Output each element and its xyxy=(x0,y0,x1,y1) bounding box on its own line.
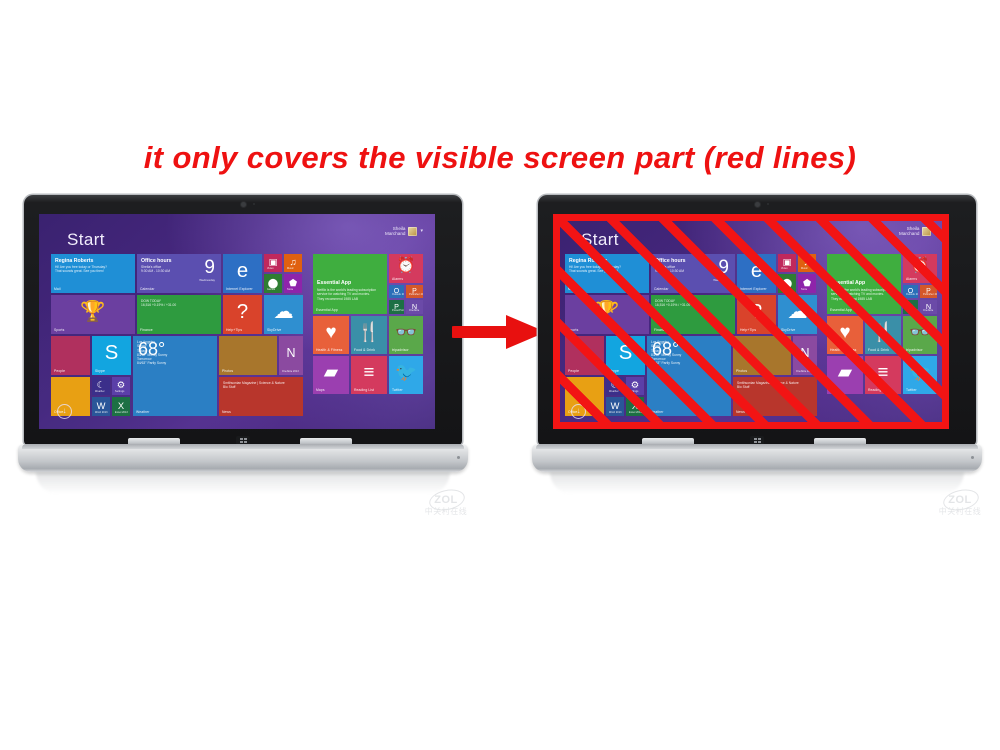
page-title: it only covers the visible screen part (… xyxy=(0,140,1000,176)
webcam-led-icon xyxy=(767,203,769,205)
mail-tile[interactable]: Regina RobertsHi! Are you free today or … xyxy=(51,254,135,293)
tripadvisor-tile-icon: 👓 xyxy=(389,316,423,349)
mail-tile-title: Regina Roberts xyxy=(55,258,93,264)
sports-tile-label: Sports xyxy=(54,328,64,332)
outlook-tile-label: Outlook 2013 xyxy=(906,293,918,296)
user-name: Sheila Marchand xyxy=(899,226,919,237)
twitter-tile[interactable]: 🐦Twitter xyxy=(389,356,423,394)
laptop-base xyxy=(532,444,982,472)
reading-list-tile[interactable]: ≡Reading List xyxy=(351,356,387,394)
onenote-small-tile-label: OneNote xyxy=(409,309,419,312)
weather-small-tile[interactable]: ☾Weather xyxy=(606,377,624,395)
reading-list-tile[interactable]: ≡Reading List xyxy=(865,356,901,394)
word-tile-label: Word 2013 xyxy=(95,411,108,414)
food-drink-tile-label: Food & Drink xyxy=(354,348,375,352)
powerpoint-tile-label: PowerPoint 2013 xyxy=(906,309,918,312)
chevron-down-icon[interactable]: ▾ xyxy=(934,228,937,234)
excel-tile[interactable]: XExcel 2013 xyxy=(626,397,644,416)
internet-explorer-tile[interactable]: eInternet Explorer xyxy=(223,254,262,293)
screen-after[interactable]: Start Sheila Marchand ▾ Regina RobertsHi… xyxy=(553,214,949,429)
twitter-tile-label: Twitter xyxy=(392,388,403,392)
alarm-tile[interactable]: ⏰Alarms xyxy=(903,254,937,283)
laptop-after: Start Sheila Marchand ▾ Regina RobertsHi… xyxy=(532,195,982,495)
laptop-base xyxy=(18,444,468,472)
essential-app-tile[interactable]: Essential AppNetflix is the world's lead… xyxy=(827,254,901,314)
help-tips-tile-label: Help+Tips xyxy=(226,328,242,332)
start-heading: Start xyxy=(581,230,619,250)
sports-tile-icon: 🏆 xyxy=(565,295,649,329)
avatar[interactable] xyxy=(922,227,931,236)
internet-explorer-tile[interactable]: eInternet Explorer xyxy=(737,254,776,293)
games-tile[interactable]: ⬤Games xyxy=(264,274,282,293)
maps-tile[interactable]: ▰Maps xyxy=(313,356,349,394)
music-tile-label: Music xyxy=(801,267,808,270)
excel-tile-label: Excel 2013 xyxy=(629,411,642,414)
news-tile[interactable]: Smithsonian Magazine | Science & NatureB… xyxy=(733,377,817,416)
onenote-tile[interactable]: NOneNote 2013 xyxy=(279,336,303,375)
onenote-tile[interactable]: NOneNote 2013 xyxy=(793,336,817,375)
games-tile[interactable]: ⬤Games xyxy=(778,274,796,293)
skydrive-tile-label: SkyDrive xyxy=(781,328,795,332)
essential-app-tile-title: Essential App xyxy=(831,280,865,286)
skype-tile-icon: S xyxy=(606,336,645,370)
alarm-tile-label: Alarms xyxy=(392,277,403,281)
start-heading: Start xyxy=(67,230,105,250)
help-tips-tile-icon: ? xyxy=(737,295,776,329)
weather-tile-label: Weather xyxy=(136,410,149,414)
onenote-tile-label: OneNote 2013 xyxy=(796,370,813,373)
weather-small-tile[interactable]: ☾Weather xyxy=(92,377,110,395)
weather-tile[interactable]: Los AngelesSunnyToday83/62° Mostly Sunny… xyxy=(133,336,217,416)
essential-app-tile[interactable]: Essential AppNetflix is the world's lead… xyxy=(313,254,387,314)
maps-tile-icon: ▰ xyxy=(827,356,863,389)
page-canvas: it only covers the visible screen part (… xyxy=(0,0,1000,750)
laptop-before: Start Sheila Marchand ▾ Regina RobertsHi… xyxy=(18,195,468,495)
scroll-down-icon[interactable]: ↓ xyxy=(57,404,72,419)
store-tile[interactable]: ⬟Store xyxy=(284,274,302,293)
skype-tile[interactable]: SSkype xyxy=(606,336,645,375)
finance-tile-label: Finance xyxy=(654,328,667,332)
tripadvisor-tile-icon: 👓 xyxy=(903,316,937,349)
tripadvisor-tile[interactable]: 👓tripadvisor xyxy=(389,316,423,354)
watermark-line2: 中关村在线 xyxy=(912,506,1000,518)
calendar-tile[interactable]: Office hoursSheila's office9:30 AM - 10:… xyxy=(651,254,735,293)
skydrive-tile-label: SkyDrive xyxy=(267,328,281,332)
weather-small-tile-label: Weather xyxy=(609,390,619,393)
people-tile-label: People xyxy=(568,369,579,373)
games-tile-label: Games xyxy=(781,288,789,291)
alarm-tile-icon: ⏰ xyxy=(903,254,937,278)
finance-tile[interactable]: DOW TODAY16,516 +0.19% / +31.00Finance xyxy=(137,295,221,334)
twitter-tile-icon: 🐦 xyxy=(389,356,423,389)
photos-tile[interactable]: Photos xyxy=(733,336,791,375)
scroll-down-icon[interactable]: ↓ xyxy=(571,404,586,419)
user-name-line1: Sheila xyxy=(907,226,920,231)
reading-list-tile-label: Reading List xyxy=(868,388,888,392)
watermark-line2: 中关村在线 xyxy=(398,506,494,518)
outlook-tile-icon: O xyxy=(389,285,404,298)
video-tile-label: Video xyxy=(267,267,274,270)
maps-tile-label: Maps xyxy=(830,388,839,392)
onenote-small-tile[interactable]: NOneNote xyxy=(920,300,937,314)
webcam-led-icon xyxy=(253,203,255,205)
publisher-tile-label: Publisher 2013 xyxy=(923,293,937,296)
outlook-tile-icon: O xyxy=(903,285,918,298)
mail-tile[interactable]: Regina RobertsHi! Are you free today or … xyxy=(565,254,649,293)
tripadvisor-tile[interactable]: 👓tripadvisor xyxy=(903,316,937,354)
finance-tile[interactable]: DOW TODAY16,516 +0.19% / +31.00Finance xyxy=(651,295,735,334)
settings-tile[interactable]: ⚙Settings xyxy=(112,377,130,395)
skype-tile[interactable]: SSkype xyxy=(92,336,131,375)
maps-tile[interactable]: ▰Maps xyxy=(827,356,863,394)
help-tips-tile-icon: ? xyxy=(223,295,262,329)
windows-logo-icon xyxy=(240,438,247,443)
health-fitness-tile-label: Health & Fitness xyxy=(830,348,856,352)
essential-app-tile-label: Essential App xyxy=(316,308,338,312)
finance-tile-lines: DOW TODAY16,516 +0.19% / +31.00 xyxy=(655,299,732,308)
settings-tile-label: Settings xyxy=(115,390,124,393)
essential-app-tile-title: Essential App xyxy=(317,280,351,286)
internet-explorer-tile-label: Internet Explorer xyxy=(740,287,767,291)
watermark-line1: ZOL xyxy=(398,494,494,506)
chevron-down-icon[interactable]: ▾ xyxy=(420,228,423,234)
excel-tile-label: Excel 2013 xyxy=(115,411,128,414)
user-account[interactable]: Sheila Marchand ▾ xyxy=(385,226,423,237)
calendar-tile-value: 9 xyxy=(204,257,215,279)
finance-tile-label: Finance xyxy=(140,328,153,332)
help-tips-tile-label: Help+Tips xyxy=(740,328,756,332)
powerpoint-tile-label: PowerPoint 2013 xyxy=(392,309,404,312)
weather-tile-label: Weather xyxy=(650,410,663,414)
calendar-tile-value: 9 xyxy=(718,257,729,279)
weather-small-tile-label: Weather xyxy=(95,390,105,393)
tile-grid-before: Regina RobertsHi! Are you free today or … xyxy=(51,254,423,416)
weather-tile-value: 68° xyxy=(652,339,679,360)
publisher-tile[interactable]: PPublisher 2013 xyxy=(920,285,937,298)
skype-tile-label: Skype xyxy=(95,369,105,373)
skype-tile-icon: S xyxy=(92,336,131,370)
surface-reflection xyxy=(550,472,964,494)
essential-app-tile-label: Essential App xyxy=(830,308,852,312)
maps-tile-icon: ▰ xyxy=(313,356,349,389)
food-drink-tile[interactable]: 🍴Food & Drink xyxy=(865,316,901,354)
skype-tile-label: Skype xyxy=(609,369,619,373)
finance-tile-lines: DOW TODAY16,516 +0.19% / +31.00 xyxy=(141,299,218,308)
store-tile[interactable]: ⬟Store xyxy=(798,274,816,293)
excel-tile[interactable]: XExcel 2013 xyxy=(112,397,130,416)
watermark-line1: ZOL xyxy=(912,494,1000,506)
webcam-icon xyxy=(241,202,246,207)
screen-before[interactable]: Start Sheila Marchand ▾ Regina RobertsHi… xyxy=(39,214,435,429)
onenote-tile-label: OneNote 2013 xyxy=(282,370,299,373)
reading-list-tile-label: Reading List xyxy=(354,388,374,392)
user-account[interactable]: Sheila Marchand ▾ xyxy=(899,226,937,237)
outlook-tile[interactable]: OOutlook 2013 xyxy=(389,285,404,298)
watermark-left: ZOL 中关村在线 xyxy=(398,488,494,528)
people-tile-label: People xyxy=(54,369,65,373)
onenote-small-tile-label: OneNote xyxy=(923,309,933,312)
skydrive-tile-icon: ☁ xyxy=(264,295,303,329)
video-tile[interactable]: ▣Video xyxy=(778,254,796,272)
news-tile-label: News xyxy=(222,410,231,414)
news-tile-lines: Smithsonian Magazine | Science & NatureB… xyxy=(737,381,814,390)
news-tile-lines: Smithsonian Magazine | Science & NatureB… xyxy=(223,381,300,390)
word-tile[interactable]: WWord 2013 xyxy=(92,397,110,416)
food-drink-tile[interactable]: 🍴Food & Drink xyxy=(351,316,387,354)
twitter-tile-icon: 🐦 xyxy=(903,356,937,389)
publisher-tile[interactable]: PPublisher 2013 xyxy=(406,285,423,298)
settings-tile[interactable]: ⚙Settings xyxy=(626,377,644,395)
word-tile-label: Word 2013 xyxy=(609,411,622,414)
mail-tile-label: Mail xyxy=(568,287,575,291)
health-fitness-tile-label: Health & Fitness xyxy=(316,348,342,352)
onenote-tile-icon: N xyxy=(279,336,303,370)
sports-tile[interactable]: 🏆Sports xyxy=(51,295,135,334)
skydrive-tile[interactable]: ☁SkyDrive xyxy=(778,295,817,334)
video-tile-label: Video xyxy=(781,267,788,270)
internet-explorer-tile-icon: e xyxy=(223,254,262,288)
reading-list-tile-icon: ≡ xyxy=(865,356,901,389)
maps-tile-label: Maps xyxy=(316,388,325,392)
twitter-tile[interactable]: 🐦Twitter xyxy=(903,356,937,394)
weather-tile-value: 68° xyxy=(138,339,165,360)
power-led-icon xyxy=(457,456,460,459)
reading-list-tile-icon: ≡ xyxy=(351,356,387,389)
video-tile[interactable]: ▣Video xyxy=(264,254,282,272)
health-fitness-tile[interactable]: ♥Health & Fitness xyxy=(827,316,863,354)
powerpoint-tile[interactable]: PPowerPoint 2013 xyxy=(389,300,404,314)
publisher-tile-icon: P xyxy=(920,285,937,298)
user-name-line1: Sheila xyxy=(393,226,406,231)
mail-tile-lines: Hi! Are you free today or Thursday?That … xyxy=(55,265,132,274)
games-tile-label: Games xyxy=(267,288,275,291)
publisher-tile-label: Publisher 2013 xyxy=(409,293,423,296)
skydrive-tile[interactable]: ☁SkyDrive xyxy=(264,295,303,334)
tripadvisor-tile-label: tripadvisor xyxy=(906,348,923,352)
help-tips-tile[interactable]: ?Help+Tips xyxy=(737,295,776,334)
windows-logo-icon xyxy=(754,438,761,443)
music-tile[interactable]: ♫Music xyxy=(798,254,816,272)
health-fitness-tile[interactable]: ♥Health & Fitness xyxy=(313,316,349,354)
calendar-tile-label: Calendar xyxy=(140,287,155,291)
onenote-tile-icon: N xyxy=(793,336,817,370)
essential-app-tile-lines: Netflix is the world's leading subscript… xyxy=(831,288,898,301)
mail-tile-title: Regina Roberts xyxy=(569,258,607,264)
alarm-tile-icon: ⏰ xyxy=(389,254,423,278)
food-drink-tile-label: Food & Drink xyxy=(868,348,889,352)
calendar-tile-label: Calendar xyxy=(654,287,669,291)
food-drink-tile-icon: 🍴 xyxy=(865,316,901,349)
tripadvisor-tile-label: tripadvisor xyxy=(392,348,409,352)
music-tile[interactable]: ♫Music xyxy=(284,254,302,272)
base-lip xyxy=(22,444,464,449)
weather-tile[interactable]: Los AngelesSunnyToday83/62° Mostly Sunny… xyxy=(647,336,731,416)
help-tips-tile[interactable]: ?Help+Tips xyxy=(223,295,262,334)
user-name-line2: Marchand xyxy=(385,231,405,236)
calendar-tile-subvalue: Wednesday xyxy=(199,278,215,282)
people-tile[interactable]: People xyxy=(565,336,604,375)
onenote-small-tile[interactable]: NOneNote xyxy=(406,300,423,314)
photos-tile[interactable]: Photos xyxy=(219,336,277,375)
user-name-line2: Marchand xyxy=(899,231,919,236)
alarm-tile-label: Alarms xyxy=(906,277,917,281)
food-drink-tile-icon: 🍴 xyxy=(351,316,387,349)
internet-explorer-tile-label: Internet Explorer xyxy=(226,287,253,291)
word-tile[interactable]: WWord 2013 xyxy=(606,397,624,416)
webcam-icon xyxy=(755,202,760,207)
calendar-tile-title: Office hours xyxy=(141,258,172,264)
news-tile[interactable]: Smithsonian Magazine | Science & NatureB… xyxy=(219,377,303,416)
news-tile-label: News xyxy=(736,410,745,414)
skydrive-tile-icon: ☁ xyxy=(778,295,817,329)
powerpoint-tile[interactable]: PPowerPoint 2013 xyxy=(903,300,918,314)
calendar-tile[interactable]: Office hoursSheila's office9:30 AM - 10:… xyxy=(137,254,221,293)
store-tile-label: Store xyxy=(287,288,293,291)
publisher-tile-icon: P xyxy=(406,285,423,298)
outlook-tile-label: Outlook 2013 xyxy=(392,293,404,296)
calendar-tile-title: Office hours xyxy=(655,258,686,264)
mail-tile-lines: Hi! Are you free today or Thursday?That … xyxy=(569,265,646,274)
watermark-right: ZOL 中关村在线 xyxy=(912,488,1000,528)
music-tile-label: Music xyxy=(287,267,294,270)
outlook-tile[interactable]: OOutlook 2013 xyxy=(903,285,918,298)
surface-reflection xyxy=(36,472,450,494)
sports-tile-label: Sports xyxy=(568,328,578,332)
calendar-tile-subvalue: Wednesday xyxy=(713,278,729,282)
settings-tile-label: Settings xyxy=(629,390,638,393)
tile-grid-after: Regina RobertsHi! Are you free today or … xyxy=(565,254,937,416)
user-name: Sheila Marchand xyxy=(385,226,405,237)
mail-tile-label: Mail xyxy=(54,287,61,291)
internet-explorer-tile-icon: e xyxy=(737,254,776,288)
health-fitness-tile-icon: ♥ xyxy=(313,316,349,349)
sports-tile[interactable]: 🏆Sports xyxy=(565,295,649,334)
photos-tile-label: Photos xyxy=(222,369,233,373)
sports-tile-icon: 🏆 xyxy=(51,295,135,329)
avatar[interactable] xyxy=(408,227,417,236)
power-led-icon xyxy=(971,456,974,459)
photos-tile-label: Photos xyxy=(736,369,747,373)
base-lip xyxy=(536,444,978,449)
essential-app-tile-lines: Netflix is the world's leading subscript… xyxy=(317,288,384,301)
health-fitness-tile-icon: ♥ xyxy=(827,316,863,349)
store-tile-label: Store xyxy=(801,288,807,291)
alarm-tile[interactable]: ⏰Alarms xyxy=(389,254,423,283)
twitter-tile-label: Twitter xyxy=(906,388,917,392)
people-tile[interactable]: People xyxy=(51,336,90,375)
